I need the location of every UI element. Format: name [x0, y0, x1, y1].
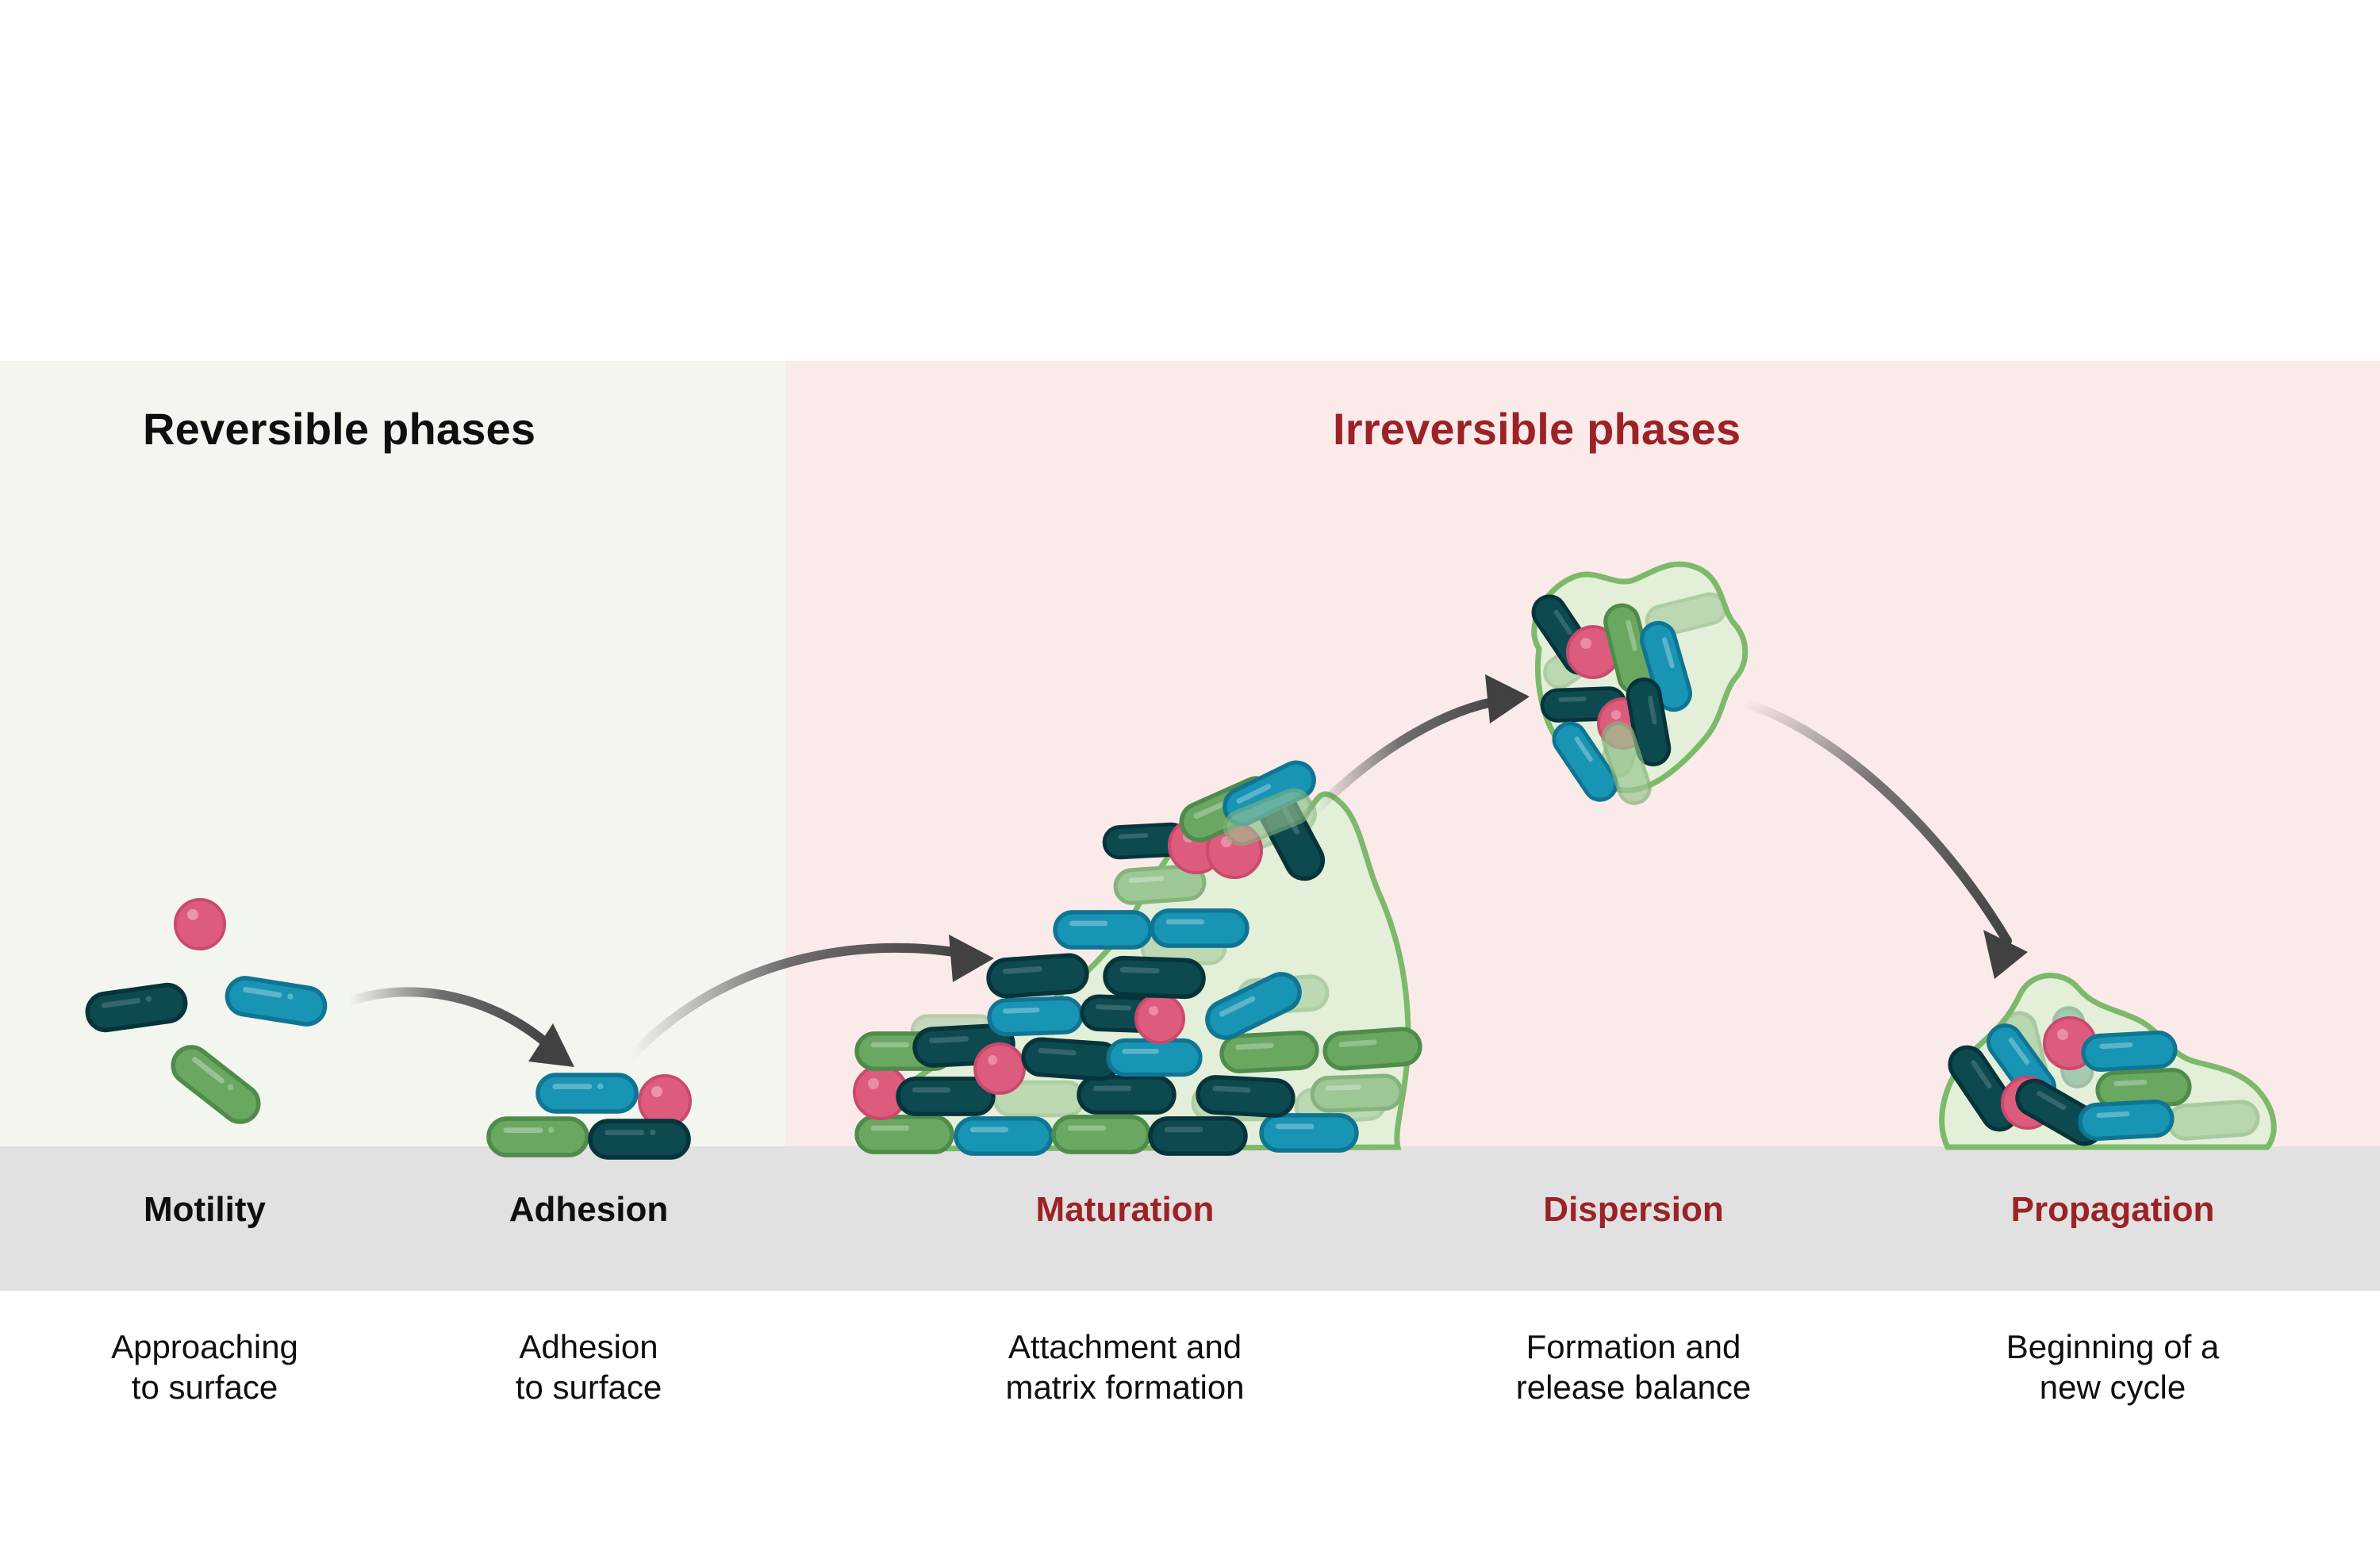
arrow-motility-to-adhesion	[349, 992, 574, 1067]
rod-cell	[2168, 1100, 2259, 1139]
rod-cell	[1221, 1032, 1318, 1073]
rod-cell	[1079, 1077, 1174, 1112]
coccus-cell	[975, 1044, 1024, 1093]
stage-label-dispersion: Dispersion	[1543, 1190, 1723, 1230]
rod-cell	[1311, 1075, 1401, 1111]
rod-cell	[988, 998, 1081, 1035]
stage-caption-dispersion: Formation and release balance	[1516, 1326, 1752, 1407]
rod-cell	[225, 976, 328, 1027]
rod-cell	[85, 983, 187, 1033]
rod-cell	[538, 1075, 636, 1111]
rod-cell	[590, 1121, 689, 1157]
propagation-biofilm	[1942, 976, 2274, 1150]
rod-cell	[956, 1119, 1051, 1154]
rod-cell	[1054, 1117, 1149, 1152]
rod-cell	[166, 1040, 266, 1129]
adhesion-cell-group	[489, 1075, 690, 1157]
stage-label-maturation: Maturation	[1036, 1190, 1215, 1230]
rod-cell	[1261, 1115, 1357, 1150]
stage-caption-maturation: Attachment and matrix formation	[1005, 1326, 1244, 1407]
rod-cell	[489, 1119, 587, 1155]
rod-cell	[1152, 911, 1247, 946]
rod-cell	[2082, 1032, 2176, 1071]
rod-cell	[1197, 1077, 1294, 1117]
dispersion-biofilm	[1527, 564, 1745, 807]
coccus-cell	[1136, 995, 1184, 1042]
rod-cell	[1104, 958, 1204, 997]
maturation-biofilm	[854, 757, 1421, 1154]
diagram-canvas: Reversible phases Irreversible phases	[0, 0, 2380, 1547]
stage-caption-adhesion: Adhesion to surface	[516, 1326, 662, 1407]
stage-caption-motility: Approaching to surface	[111, 1326, 298, 1407]
rod-cell	[1055, 912, 1150, 947]
stage-label-propagation: Propagation	[2011, 1190, 2215, 1230]
rod-cell	[2079, 1101, 2173, 1140]
stage-caption-propagation: Beginning of a new cycle	[2006, 1326, 2220, 1407]
rod-cell	[1108, 1041, 1200, 1075]
rod-cell	[857, 1117, 952, 1152]
arrow-maturation-to-dispersion	[1317, 674, 1530, 809]
rod-cell	[1150, 1119, 1246, 1154]
rod-cell	[988, 954, 1088, 997]
rod-cell	[1023, 1038, 1120, 1081]
arrow-dispersion-to-propagation	[1745, 703, 2028, 979]
biofilm-artwork	[0, 0, 2380, 1547]
stage-label-motility: Motility	[144, 1190, 266, 1230]
coccus-cell	[175, 900, 225, 949]
stage-label-adhesion: Adhesion	[509, 1190, 668, 1230]
rod-cell	[1324, 1028, 1422, 1070]
motility-cell-group	[85, 900, 327, 1129]
